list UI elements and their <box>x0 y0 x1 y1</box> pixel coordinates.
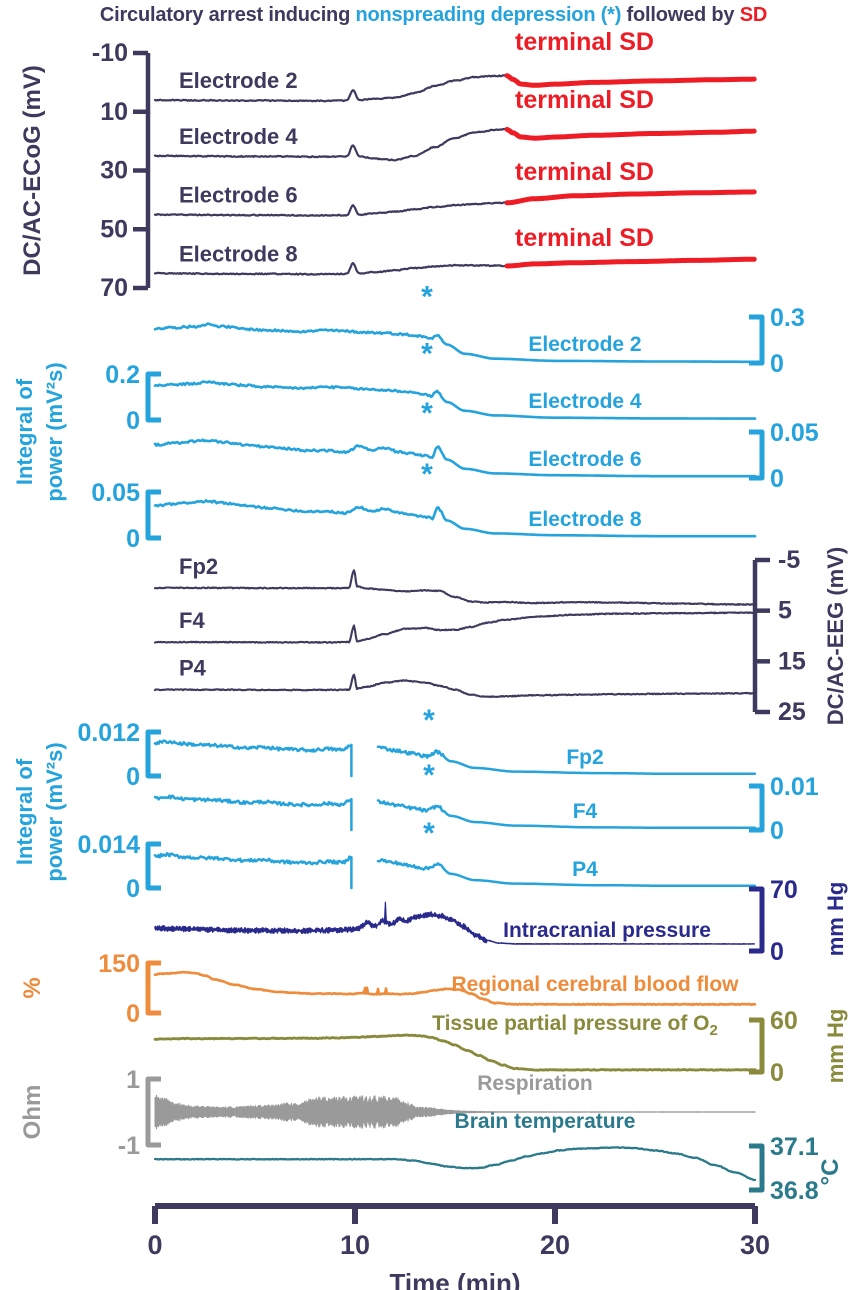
nonspreading-depression-star: * <box>423 704 435 737</box>
eeg-trace <box>155 570 755 605</box>
respiration-unit-label: Ohm <box>19 1085 46 1140</box>
power-ecog-trace-label: Electrode 6 <box>528 448 641 471</box>
rcbf-unit-label: % <box>19 977 46 998</box>
nonspreading-depression-star: * <box>421 458 433 491</box>
rcbf-scale-bottom-label: 0 <box>126 1000 140 1028</box>
x-axis-tick-label: 10 <box>340 1230 370 1260</box>
icp-scale-bottom-label: 0 <box>770 938 784 966</box>
power-scale-bottom-label: 0 <box>126 525 140 553</box>
recording-traces-svg: -1010305070DC/AC-ECoG (mV)terminal SDEle… <box>0 0 867 1290</box>
terminal-sd-label: terminal SD <box>515 158 654 186</box>
power-scale-bracket-left <box>148 492 161 538</box>
power-eeg-trace-label: Fp2 <box>566 746 603 769</box>
power-ecog-trace-label: Electrode 4 <box>528 390 642 413</box>
ecog-tick-label: 50 <box>100 215 128 243</box>
x-axis-tick-label: 0 <box>147 1230 162 1260</box>
eeg-tick-label: 15 <box>778 647 806 675</box>
power-scale-bottom-label: 0 <box>770 350 784 378</box>
power-eeg-trace <box>155 741 351 752</box>
ecog-trace-label: Electrode 8 <box>179 241 298 266</box>
ecog-tick-label: -10 <box>92 39 128 67</box>
terminal-sd-label: terminal SD <box>515 224 654 252</box>
power-scale-bottom-label: 0 <box>770 465 784 493</box>
ptio2-scale-bottom-label: 0 <box>770 1059 784 1087</box>
power-scale-bottom-label: 0 <box>770 817 784 845</box>
ptio2-trace <box>155 1035 755 1070</box>
power-ecog-axis-title-2: power (mV²s) <box>42 362 67 501</box>
eeg-trace <box>155 612 755 642</box>
power-ecog-trace <box>155 324 755 362</box>
power-scale-top-label: 0.3 <box>770 304 805 332</box>
nonspreading-depression-star: * <box>421 397 433 430</box>
power-eeg-trace-label: F4 <box>573 800 598 823</box>
ecog-tick-label: 10 <box>100 98 128 126</box>
power-scale-top-label: 0.014 <box>77 831 140 859</box>
respiration-label: Respiration <box>477 1072 593 1095</box>
power-scale-top-label: 0.05 <box>770 419 819 447</box>
power-ecog-axis-title-1: Integral of <box>12 378 37 485</box>
power-scale-bracket-left <box>148 732 161 776</box>
power-scale-bottom-label: 0 <box>126 875 140 903</box>
ecog-trace-label: Electrode 6 <box>179 183 298 208</box>
eeg-trace-label: Fp2 <box>179 554 218 579</box>
figure-root: Circulatory arrest inducing nonspreading… <box>0 0 867 1290</box>
terminal-sd-label: terminal SD <box>515 28 654 56</box>
power-scale-bracket-left <box>148 374 161 420</box>
nonspreading-depression-star: * <box>421 338 433 371</box>
power-scale-top-label: 0.2 <box>105 361 140 389</box>
power-scale-bracket-right <box>749 432 762 478</box>
ecog-trace-terminal-sd <box>507 192 754 203</box>
icp-scale-bracket <box>749 889 762 951</box>
ecog-tick-label: 70 <box>100 274 128 302</box>
power-scale-top-label: 0.012 <box>77 719 140 747</box>
x-axis-tick-label: 30 <box>740 1230 770 1260</box>
nonspreading-depression-star: * <box>421 281 433 314</box>
power-eeg-trace <box>378 859 755 885</box>
eeg-tick-label: 5 <box>778 597 792 625</box>
eeg-trace <box>155 675 755 697</box>
eeg-trace-label: P4 <box>179 656 207 681</box>
x-axis-tick-label: 20 <box>540 1230 570 1260</box>
temperature-label: Brain temperature <box>455 1110 636 1133</box>
power-eeg-axis-title-1: Integral of <box>12 758 37 865</box>
rcbf-scale-top-label: 150 <box>98 950 140 978</box>
ptio2-scale-bracket <box>749 1020 762 1072</box>
icp-label: Intracranial pressure <box>503 919 711 942</box>
temperature-scale-top-label: 37.1 <box>770 1133 819 1161</box>
eeg-tick-label: -5 <box>778 546 800 574</box>
ptio2-label: Tissue partial pressure of O2 <box>432 1012 718 1039</box>
nonspreading-depression-star: * <box>423 759 435 792</box>
power-eeg-trace <box>155 796 351 806</box>
ecog-trace-terminal-sd <box>507 76 754 86</box>
eeg-trace-label: F4 <box>179 608 205 633</box>
power-eeg-trace-label: P4 <box>572 858 598 881</box>
icp-scale-top-label: 70 <box>770 876 798 904</box>
eeg-axis-title: DC/AC-EEG (mV) <box>823 547 848 725</box>
terminal-sd-label: terminal SD <box>515 86 654 114</box>
temperature-scale-bottom-label: 36.8 <box>770 1177 819 1205</box>
power-ecog-trace <box>155 440 755 477</box>
power-ecog-trace-label: Electrode 8 <box>528 508 642 531</box>
power-ecog-trace <box>155 382 755 419</box>
power-scale-bottom-label: 0 <box>126 763 140 791</box>
ecog-tick-label: 30 <box>100 157 128 185</box>
power-ecog-trace-label: Electrode 2 <box>528 333 641 356</box>
rcbf-label: Regional cerebral blood flow <box>451 973 739 996</box>
ecog-axis-title: DC/AC-ECoG (mV) <box>19 65 46 276</box>
ptio2-scale-top-label: 60 <box>770 1007 798 1035</box>
ecog-trace-terminal-sd <box>507 129 754 138</box>
power-scale-bracket-right <box>749 786 762 830</box>
power-scale-top-label: 0.05 <box>91 479 140 507</box>
rcbf-scale-bracket <box>148 963 161 1013</box>
power-scale-top-label: 0.01 <box>770 773 819 801</box>
icp-unit-label: mm Hg <box>823 882 848 957</box>
ptio2-unit-label: mm Hg <box>823 1009 848 1084</box>
temperature-trace <box>155 1147 755 1180</box>
power-scale-bottom-label: 0 <box>126 407 140 435</box>
power-eeg-axis-title-2: power (mV²s) <box>42 742 67 881</box>
temperature-unit-label: °C <box>817 1159 844 1186</box>
power-scale-bracket-left <box>148 844 161 888</box>
power-scale-bracket-right <box>749 317 762 363</box>
temperature-scale-bracket <box>749 1146 762 1190</box>
x-axis-title: Time (min) <box>390 1268 521 1290</box>
ecog-trace-terminal-sd <box>507 259 754 266</box>
nonspreading-depression-star: * <box>423 817 435 850</box>
ecog-trace-label: Electrode 4 <box>179 124 298 149</box>
respiration-scale-top-label: 1 <box>126 1066 140 1094</box>
power-ecog-trace <box>155 500 755 536</box>
ecog-trace-label: Electrode 2 <box>179 68 298 93</box>
eeg-tick-label: 25 <box>778 698 806 726</box>
power-eeg-trace <box>155 853 351 864</box>
respiration-scale-bottom-label: -1 <box>118 1132 140 1160</box>
